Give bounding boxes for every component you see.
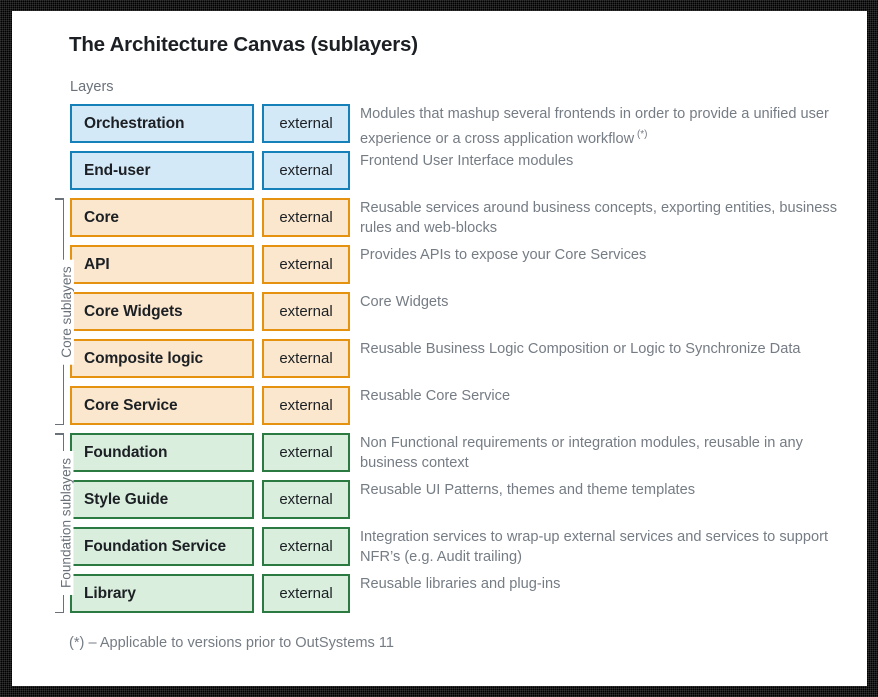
- bracket-tick-bottom: [55, 424, 64, 426]
- bracket-tick-bottom: [55, 612, 64, 614]
- layer-visibility-box[interactable]: external: [262, 198, 350, 237]
- layer-description: Reusable UI Patterns, themes and theme t…: [360, 481, 860, 501]
- layer-description: Reusable libraries and plug-ins: [360, 575, 860, 595]
- footnote-marker: (*): [634, 129, 647, 140]
- layer-row: End-userexternalFrontend User Interface …: [12, 151, 867, 198]
- layer-name-box[interactable]: Core Widgets: [70, 292, 254, 331]
- layer-description: Modules that mashup several frontends in…: [360, 105, 860, 149]
- layers-column-header: Layers: [70, 79, 114, 95]
- sublayer-bracket: Foundation sublayers: [20, 433, 64, 613]
- layer-name-box[interactable]: Foundation: [70, 433, 254, 472]
- layer-row: Style GuideexternalReusable UI Patterns,…: [12, 480, 867, 527]
- layer-visibility-box[interactable]: external: [262, 433, 350, 472]
- layer-row: OrchestrationexternalModules that mashup…: [12, 104, 867, 151]
- bracket-label: Core sublayers: [59, 259, 74, 364]
- layer-description: Non Functional requirements or integrati…: [360, 434, 860, 473]
- layer-row: Core ServiceexternalReusable Core Servic…: [12, 386, 867, 433]
- layer-visibility-box[interactable]: external: [262, 292, 350, 331]
- layer-description: Reusable services around business concep…: [360, 199, 860, 238]
- layer-name-box[interactable]: Composite logic: [70, 339, 254, 378]
- bracket-tick-top: [55, 198, 64, 200]
- layer-description: Frontend User Interface modules: [360, 152, 860, 172]
- layer-visibility-box[interactable]: external: [262, 527, 350, 566]
- layer-name-box[interactable]: Foundation Service: [70, 527, 254, 566]
- layer-visibility-box[interactable]: external: [262, 480, 350, 519]
- bracket-tick-top: [55, 433, 64, 435]
- layer-name-box[interactable]: End-user: [70, 151, 254, 190]
- layer-visibility-box[interactable]: external: [262, 245, 350, 284]
- layer-visibility-box[interactable]: external: [262, 151, 350, 190]
- layer-name-box[interactable]: Core Service: [70, 386, 254, 425]
- layer-visibility-box[interactable]: external: [262, 104, 350, 143]
- footnote: (*) – Applicable to versions prior to Ou…: [69, 635, 394, 651]
- layer-row: APIexternalProvides APIs to expose your …: [12, 245, 867, 292]
- sublayer-bracket: Core sublayers: [20, 198, 64, 425]
- layer-description: Reusable Business Logic Composition or L…: [360, 340, 860, 360]
- layer-description: Core Widgets: [360, 293, 860, 313]
- layer-visibility-box[interactable]: external: [262, 574, 350, 613]
- layer-name-box[interactable]: Orchestration: [70, 104, 254, 143]
- layer-description: Integration services to wrap-up external…: [360, 528, 860, 567]
- layer-visibility-box[interactable]: external: [262, 386, 350, 425]
- layer-name-box[interactable]: Library: [70, 574, 254, 613]
- layer-visibility-box[interactable]: external: [262, 339, 350, 378]
- layer-row: FoundationexternalNon Functional require…: [12, 433, 867, 480]
- layer-name-box[interactable]: API: [70, 245, 254, 284]
- layer-description: Reusable Core Service: [360, 387, 860, 407]
- screenshot-root: The Architecture Canvas (sublayers) Laye…: [0, 0, 878, 697]
- layer-row: Core WidgetsexternalCore Widgets: [12, 292, 867, 339]
- layer-row: LibraryexternalReusable libraries and pl…: [12, 574, 867, 621]
- layer-row: Composite logicexternalReusable Business…: [12, 339, 867, 386]
- layer-name-box[interactable]: Style Guide: [70, 480, 254, 519]
- architecture-canvas-card: The Architecture Canvas (sublayers) Laye…: [12, 11, 867, 686]
- bracket-label: Foundation sublayers: [59, 451, 74, 595]
- layer-name-box[interactable]: Core: [70, 198, 254, 237]
- layer-row: Foundation ServiceexternalIntegration se…: [12, 527, 867, 574]
- layer-row: CoreexternalReusable services around bus…: [12, 198, 867, 245]
- layers-list: OrchestrationexternalModules that mashup…: [12, 104, 867, 621]
- layer-description: Provides APIs to expose your Core Servic…: [360, 246, 860, 266]
- page-title: The Architecture Canvas (sublayers): [69, 33, 418, 57]
